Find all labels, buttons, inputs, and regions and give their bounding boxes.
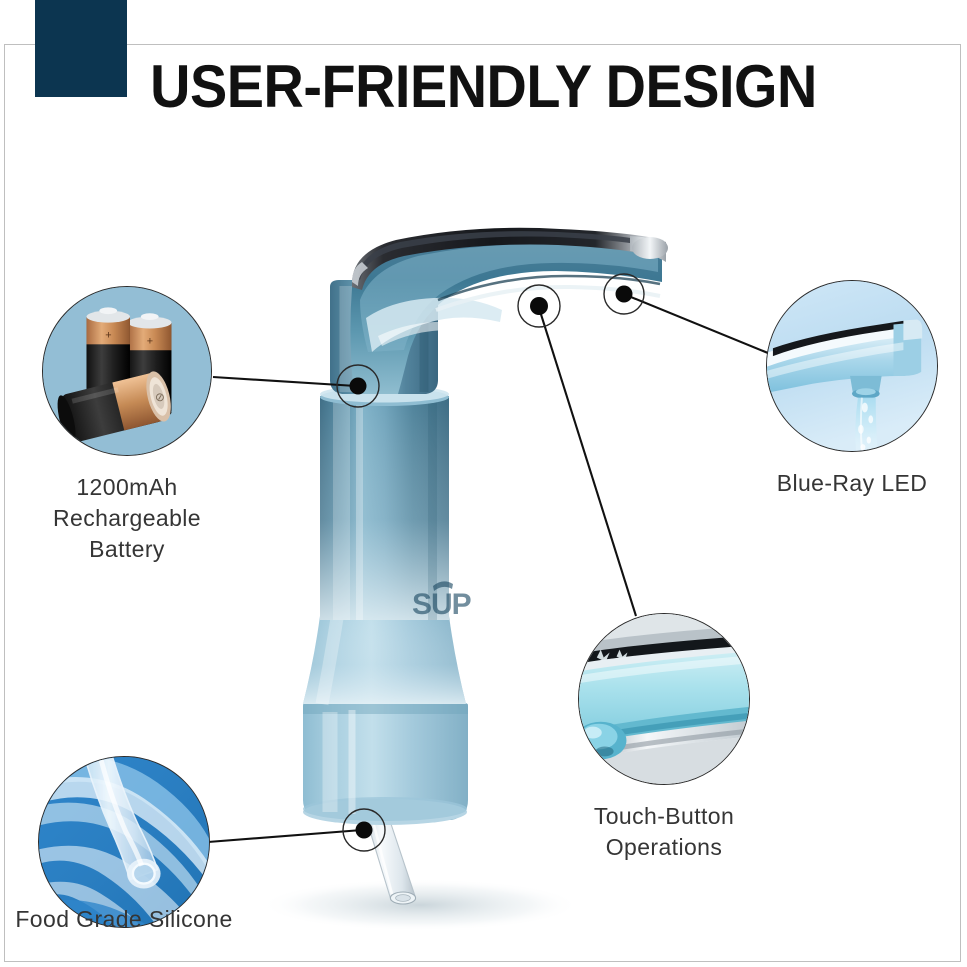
svg-text:SUP: SUP (412, 588, 471, 621)
svg-text:+: + (147, 335, 153, 347)
brand-logo: SUP (412, 581, 471, 621)
product-body: SUP (320, 386, 471, 622)
leader-line-touch (539, 308, 636, 616)
callout-touch-label: Touch-Button Operations (594, 801, 734, 863)
callout-led-image (766, 280, 938, 452)
callout-touch-image (578, 613, 750, 785)
silicone-tube-icon (39, 757, 209, 927)
callout-silicone-image (38, 756, 210, 928)
water-spout-led-icon (767, 281, 937, 451)
product-base (303, 703, 468, 825)
callout-silicone[interactable]: Food Grade Silicone (38, 756, 210, 928)
touch-button-closeup-icon (579, 614, 749, 784)
callout-silicone-label: Food Grade Silicone (15, 904, 232, 935)
callout-touch[interactable]: Touch-Button Operations (578, 613, 750, 785)
battery-cells-icon: + + ⊘ (43, 287, 211, 455)
svg-text:+: + (105, 329, 111, 341)
callout-battery-image: + + ⊘ (42, 286, 212, 456)
infographic-canvas: USER-FRIENDLY DESIGN (0, 0, 967, 967)
callout-battery-label: 1200mAh Rechargeable Battery (53, 472, 201, 565)
leader-line-silicone (208, 830, 362, 842)
product-shoulder (303, 616, 466, 704)
callout-led-label: Blue-Ray LED (777, 468, 928, 499)
callout-led[interactable]: Blue-Ray LED (766, 280, 938, 452)
callout-battery[interactable]: + + ⊘ (42, 286, 212, 456)
